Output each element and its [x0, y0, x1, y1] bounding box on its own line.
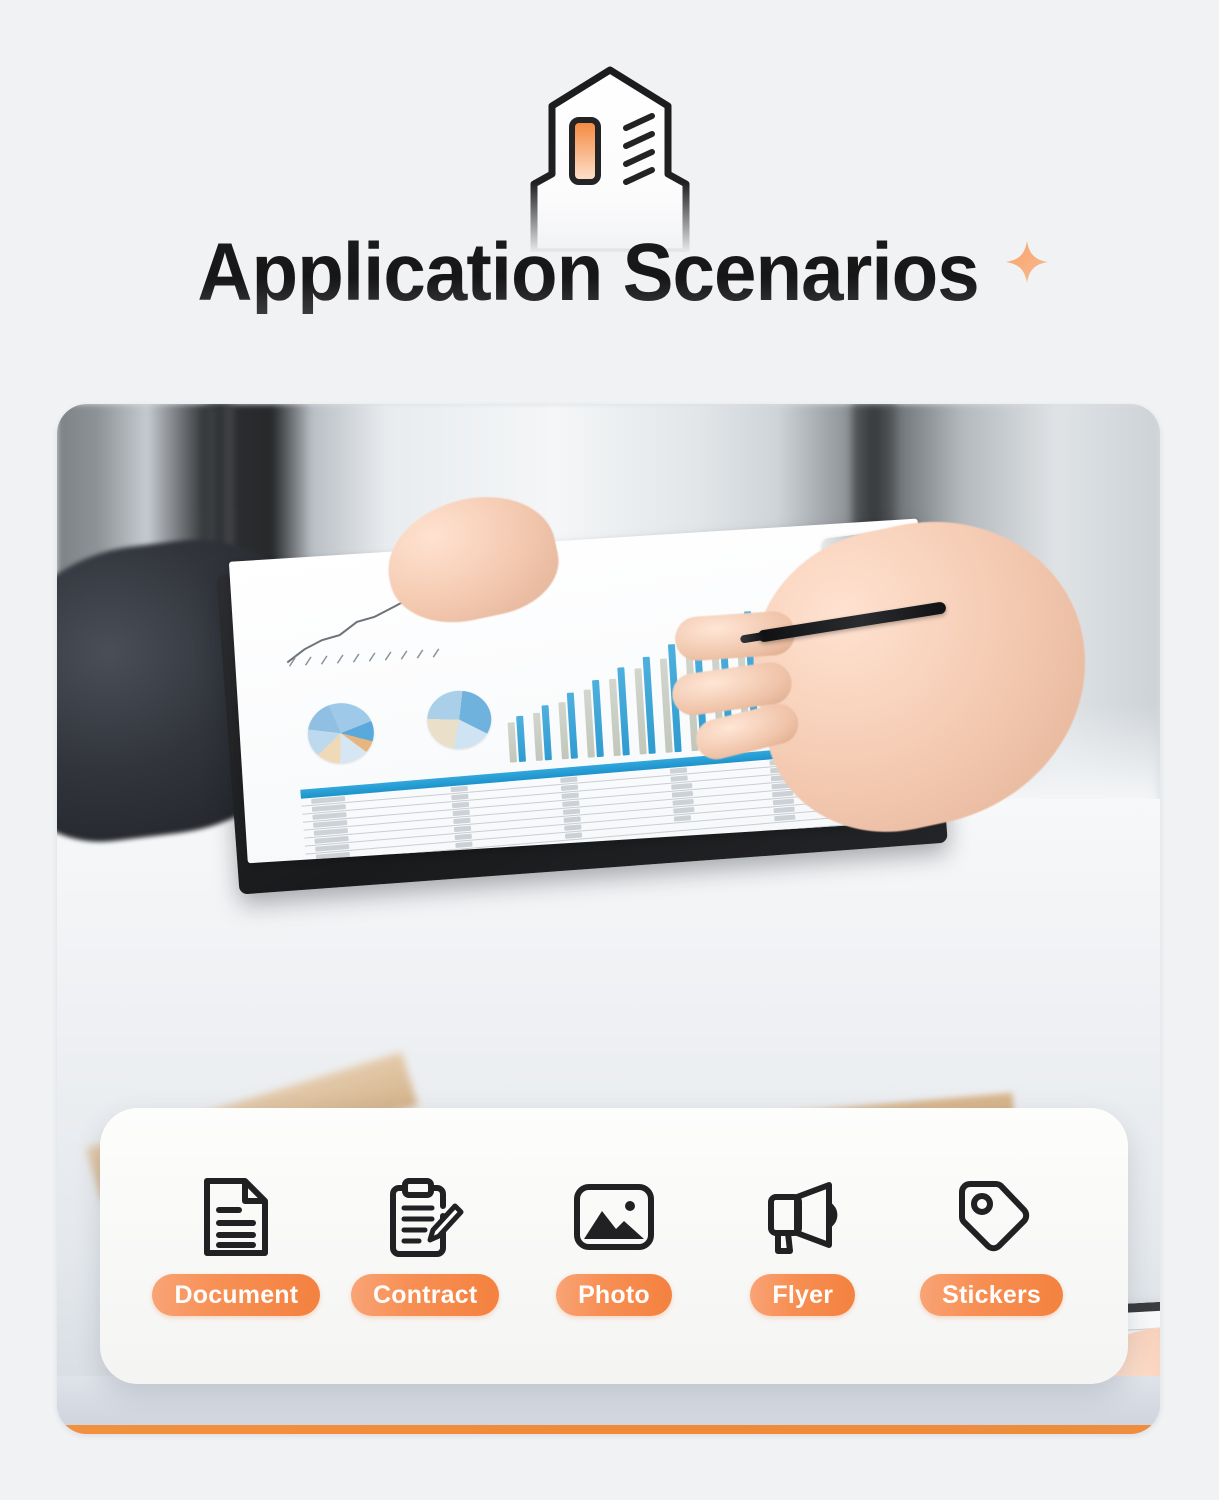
category-item-photo[interactable]: Photo [524, 1176, 704, 1316]
price-tag-icon [952, 1176, 1032, 1258]
category-label-photo: Photo [556, 1274, 672, 1316]
image-icon [572, 1176, 656, 1258]
clipboard-pencil-icon [385, 1176, 465, 1258]
category-label-flyer: Flyer [750, 1274, 855, 1316]
category-item-flyer[interactable]: Flyer [713, 1176, 893, 1316]
document-icon [199, 1176, 273, 1258]
category-item-stickers[interactable]: Stickers [902, 1176, 1082, 1316]
category-label-document: Document [152, 1274, 320, 1316]
building-skyscraper-icon [500, 62, 720, 252]
page-header: Application Scenarios [0, 0, 1219, 390]
category-label-contract: Contract [351, 1274, 499, 1316]
orange-accent-bar [57, 1425, 1160, 1434]
category-label-stickers: Stickers [920, 1274, 1063, 1316]
page-title: Application Scenarios [198, 232, 979, 314]
sparkle-icon [1003, 238, 1051, 286]
megaphone-icon [761, 1176, 845, 1258]
category-item-contract[interactable]: Contract [335, 1176, 515, 1316]
pie-chart-art [425, 689, 493, 751]
title-row: Application Scenarios [0, 232, 1219, 314]
application-categories-card: Document Contract [100, 1108, 1128, 1384]
pie-chart-art [306, 701, 376, 765]
category-item-document[interactable]: Document [146, 1176, 326, 1316]
